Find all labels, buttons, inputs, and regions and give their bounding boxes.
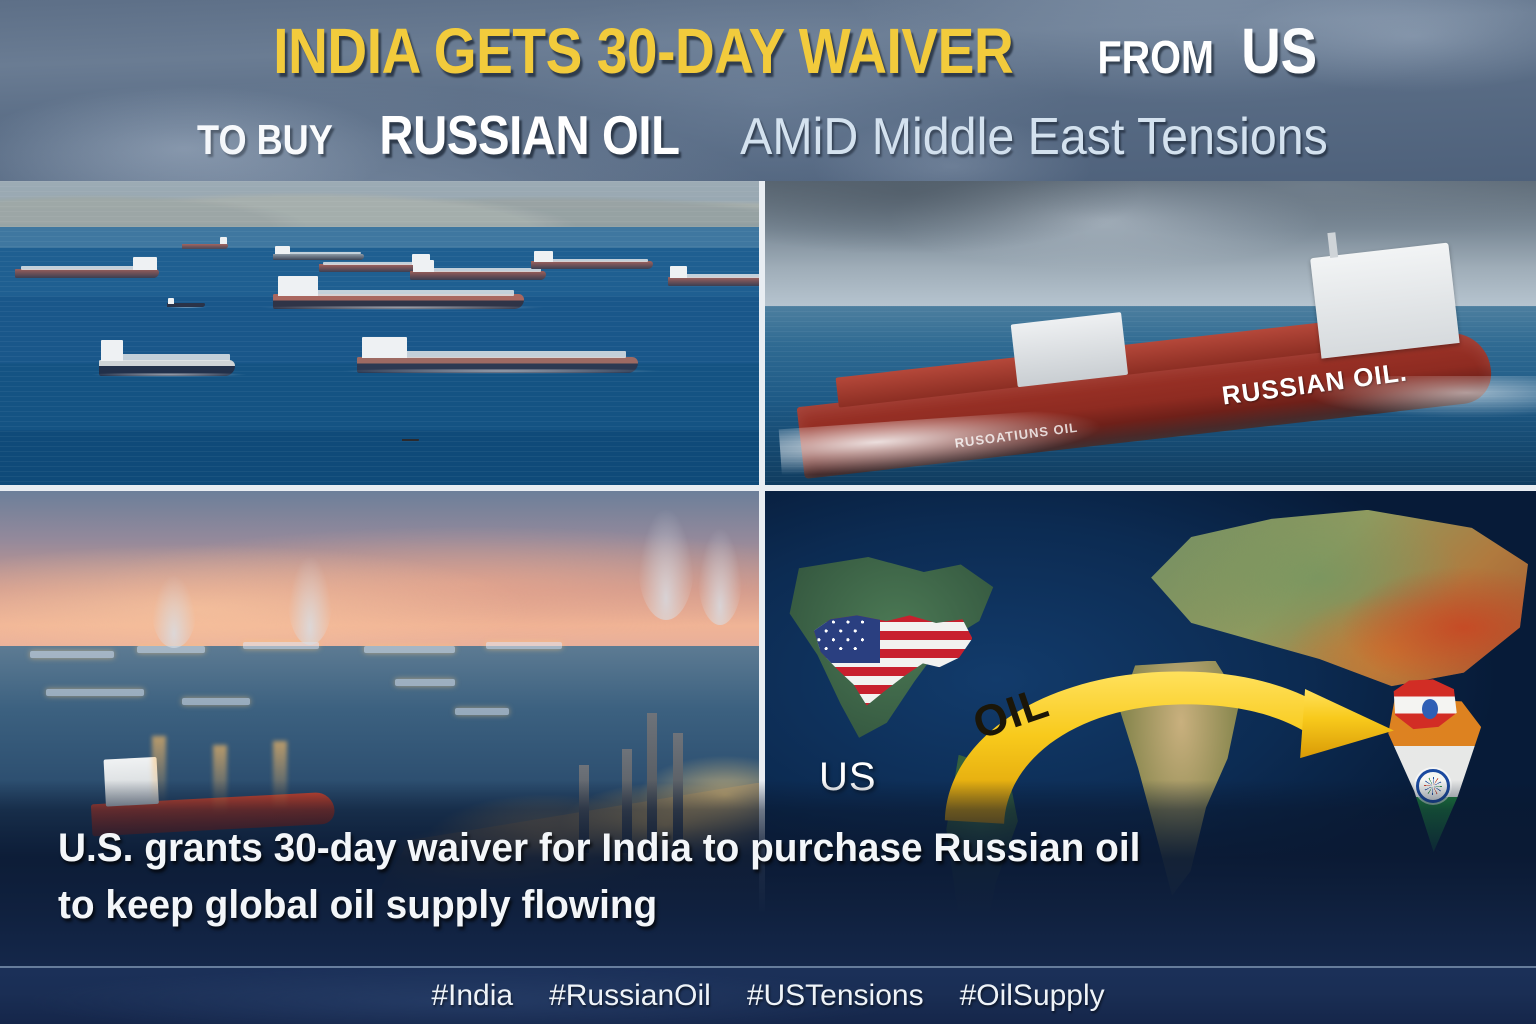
us-map-label: US	[819, 755, 877, 800]
photo-russian-oil-tanker: RUSSIAN OIL. RUSOATIUNS OIL	[765, 181, 1536, 485]
distant-ship	[30, 651, 113, 658]
infographic-card: INDIA GETS 30-DAY WAIVERFROMUS TO BUYRUS…	[0, 0, 1536, 1024]
midship-structure	[1011, 312, 1128, 387]
headline-line-1: INDIA GETS 30-DAY WAIVERFROMUS	[0, 14, 1536, 88]
hashtag-ustensions[interactable]: #USTensions	[747, 979, 924, 1013]
tanker-ship	[357, 342, 638, 372]
light-reflection	[152, 736, 166, 806]
headline-subtext: AMiD Middle East Tensions	[741, 107, 1329, 167]
smoke-plume	[698, 529, 742, 625]
headline-banner: INDIA GETS 30-DAY WAIVERFROMUS TO BUYRUS…	[0, 0, 1536, 181]
tanker-ship	[273, 281, 523, 308]
water-ripple-texture	[0, 181, 759, 485]
headline-us-text: US	[1241, 14, 1317, 88]
light-reflection	[273, 741, 287, 811]
distant-ship	[182, 698, 250, 705]
cargo-ship	[99, 345, 236, 375]
hashtag-bar: #India #RussianOil #USTensions #OilSuppl…	[0, 966, 1536, 1024]
headline-gold-text: INDIA GETS 30-DAY WAIVER	[273, 14, 1013, 88]
caption-line-1: U.S. grants 30-day waiver for India to p…	[58, 820, 1435, 877]
photo-tanker-fleet	[0, 181, 759, 485]
tanker-ship	[182, 239, 228, 249]
tugboat	[167, 300, 205, 308]
stern-wake	[1305, 376, 1536, 419]
distant-ship	[46, 689, 145, 696]
headline-from-text: FROM	[1097, 30, 1213, 84]
hashtag-russianoil[interactable]: #RussianOil	[549, 979, 711, 1013]
smoke-plume	[152, 576, 196, 648]
small-boat	[402, 436, 419, 441]
hashtag-india[interactable]: #India	[431, 979, 513, 1013]
tanker-ship	[15, 260, 159, 278]
tanker-ship	[668, 269, 759, 286]
tanker-ship	[410, 263, 547, 280]
headline-russianoil-text: RUSSIAN OIL	[380, 103, 680, 167]
hashtag-oilsupply[interactable]: #OilSupply	[960, 979, 1105, 1013]
hashtag-list: #India #RussianOil #USTensions #OilSuppl…	[431, 979, 1104, 1013]
headline-line-2: TO BUYRUSSIAN OILAMiD Middle East Tensio…	[0, 103, 1536, 167]
tanker-ship	[531, 254, 652, 269]
superstructure	[1310, 242, 1459, 359]
light-reflection	[213, 745, 227, 815]
headline-tobuy-text: TO BUY	[197, 116, 333, 164]
caption-text: U.S. grants 30-day waiver for India to p…	[58, 820, 1435, 934]
smoke-plume	[638, 510, 694, 620]
caption-line-2: to keep global oil supply flowing	[58, 877, 1435, 934]
